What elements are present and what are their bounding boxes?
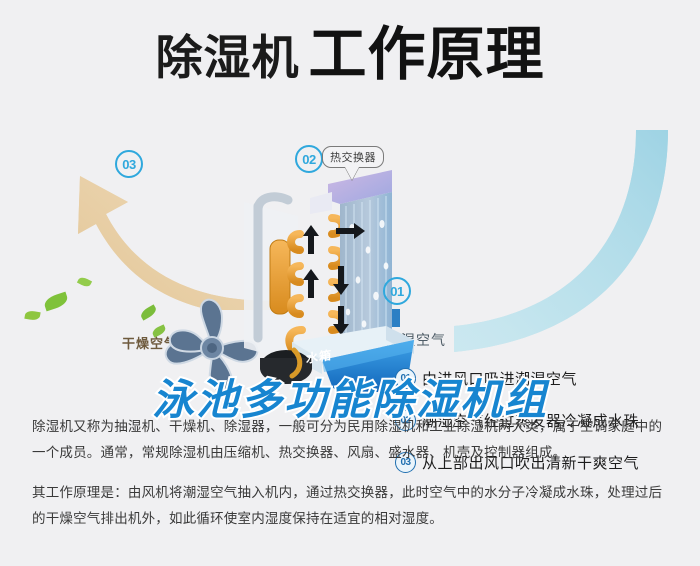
heat-exchanger-callout: 热交换器	[322, 146, 384, 168]
diagram-badge-03: 03	[115, 150, 143, 178]
callout-tail-icon	[345, 167, 359, 180]
description-block: 除湿机又称为抽湿机、干燥机、除湿器，一般可分为民用除湿机和工业除湿机两大类，属于…	[32, 414, 672, 532]
diagram-badge-02: 02	[295, 145, 323, 173]
page-title-part1: 除湿机	[155, 31, 299, 84]
description-paragraph-2: 其工作原理是：由风机将潮湿空气抽入机内，通过热交换器，此时空气中的水分子冷凝成水…	[32, 480, 672, 533]
diagram-badge-01: 01	[383, 277, 411, 305]
dehumidifier-diagram: 干燥空气 潮湿空气	[0, 120, 700, 400]
description-paragraph-1: 除湿机又称为抽湿机、干燥机、除湿器，一般可分为民用除湿机和工业除湿机两大类，属于…	[32, 414, 672, 467]
heat-exchanger-label: 热交换器	[330, 152, 376, 164]
page-root: 除湿机工作原理	[0, 0, 700, 566]
page-title-part2: 工作原理	[308, 22, 544, 87]
page-title: 除湿机工作原理	[0, 26, 700, 84]
leaf-icon	[24, 310, 40, 321]
dehumidifier-unit-illustration	[236, 162, 436, 392]
